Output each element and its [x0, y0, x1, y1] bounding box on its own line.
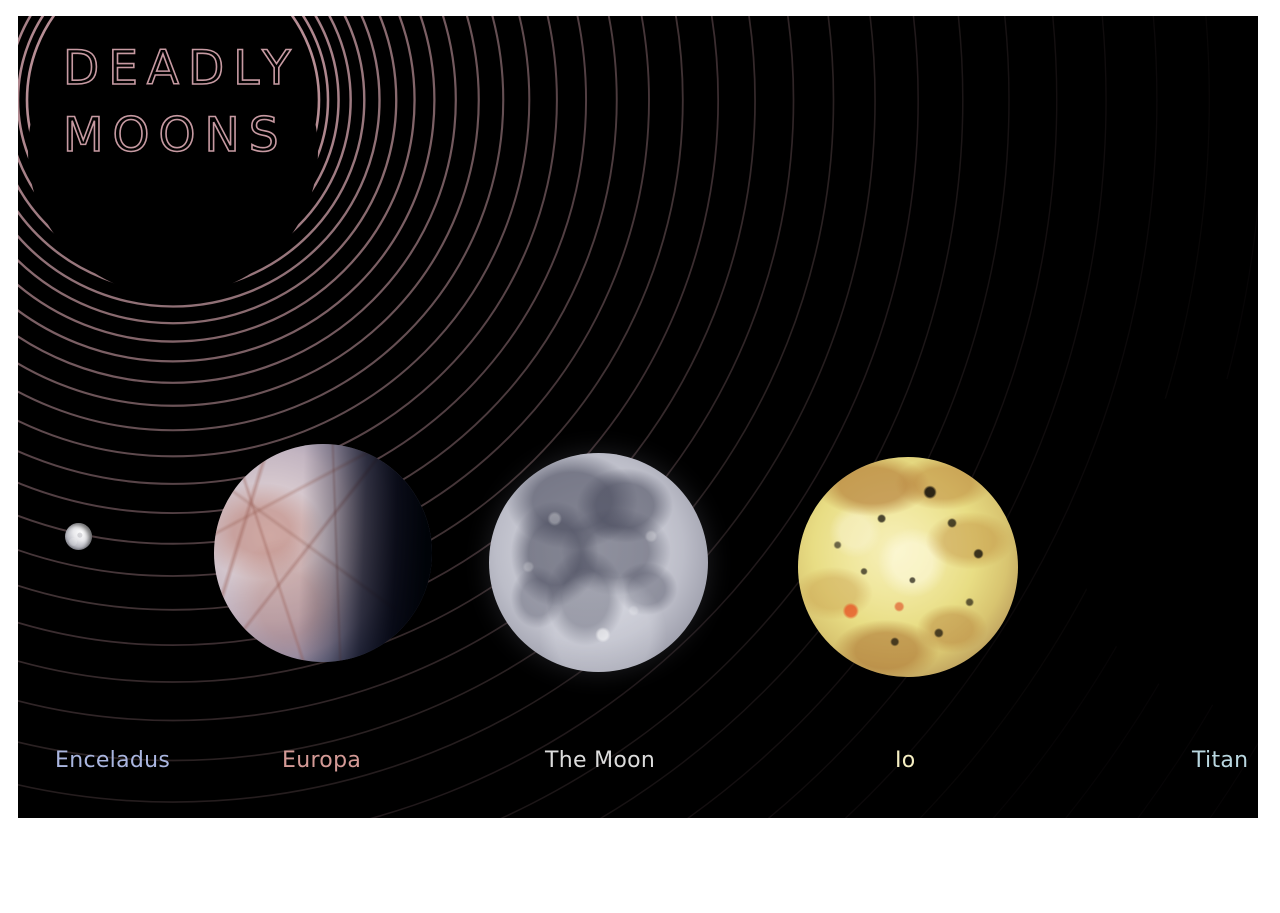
moon-image-io	[798, 457, 1018, 677]
moon-image-europa	[214, 444, 432, 662]
page-title: DEADLY MOONS	[63, 36, 293, 169]
moon-image-enceladus	[65, 523, 92, 550]
moon-label-titan: Titan	[1192, 748, 1248, 773]
poster-footer: E U U N I V E R S E A W A R E N E S S ww…	[0, 818, 1280, 913]
title-line-1: DEADLY	[63, 36, 293, 103]
moon-label-enceladus: Enceladus	[55, 748, 170, 773]
moon-label-io: Io	[895, 748, 916, 773]
moon-label-the-moon: The Moon	[545, 748, 655, 773]
moon-image-the-moon	[489, 453, 708, 672]
title-line-2: MOONS	[63, 103, 293, 170]
poster-image-stage: DEADLY MOONS Enceladus Europa The Moon I…	[18, 16, 1258, 818]
moon-image-titan	[1080, 378, 1258, 708]
poster-root: DEADLY MOONS Enceladus Europa The Moon I…	[0, 0, 1280, 913]
moon-label-europa: Europa	[282, 748, 361, 773]
